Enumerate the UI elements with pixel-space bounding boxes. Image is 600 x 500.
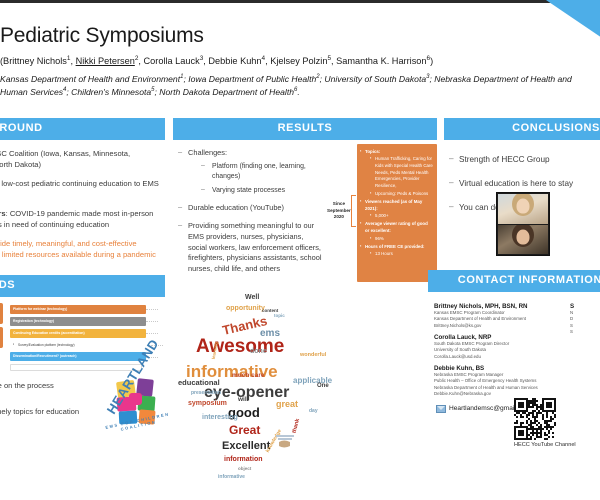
background-paragraph-3: Driving factors: COVID-19 pandemic made … (0, 208, 161, 230)
word-cloud-word: symposium (188, 400, 227, 407)
qr-block: HECC YouTube Channel (514, 398, 576, 448)
section-header-contact: CONTACT INFORMATION (428, 270, 600, 292)
results-stats-box: Topics: Human Trafficking, Caring for Ki… (357, 144, 437, 282)
contact-name: Brittney Nichols, MPH, BSN, RN (434, 303, 564, 310)
word-cloud-word: topic (274, 313, 285, 318)
list-item: Viewers reached (as of May 2021): 5,000+ (360, 199, 433, 220)
section-header-background: BACKGROUND (0, 118, 165, 140)
list-item: 13 Hours (370, 251, 433, 258)
list-item: 5,000+ (370, 213, 433, 220)
childrens-minnesota-logo (275, 432, 297, 450)
word-cloud-word: object (238, 466, 251, 471)
contact-line: S (570, 329, 600, 335)
word-cloud-word: educational (178, 378, 220, 387)
stat-0-label: Topics: (365, 149, 380, 154)
flow-bar: Platform for webinar (technology) (10, 305, 146, 314)
section-background: BACKGROUND Group: HEMSC Coalition (Iowa,… (0, 118, 165, 268)
background-paragraph-1: Group: HEMSC Coalition (Iowa, Kansas, Mi… (0, 148, 161, 170)
section-header-methods: METHODS (0, 275, 165, 297)
list-item: Providing something meaningful to our EM… (177, 221, 323, 275)
stat-1-children: 5,000+ (370, 213, 433, 220)
section-results: RESULTS Challenges: Platform (finding on… (173, 118, 437, 282)
word-cloud-word: Well (245, 294, 259, 301)
contact-email[interactable]: Debbie.Kuhn@Nebraska.gov (434, 391, 564, 397)
background-text-2: Provide low-cost pediatric continuing ed… (0, 179, 159, 199)
author-list: (Brittney Nichols1, Nikki Petersen2, Cor… (0, 55, 600, 66)
word-cloud-word: will (238, 396, 248, 403)
word-cloud-word: Awesome (196, 336, 284, 358)
word-cloud-word: day (309, 408, 318, 414)
word-cloud-word: ems (260, 328, 280, 339)
results-body: Challenges: Platform (finding one, learn… (173, 140, 437, 282)
flow-bar: Continuing Education credits (accreditat… (10, 329, 146, 338)
list-item: Virtual education is here to stay (448, 178, 600, 190)
word-cloud-word: interesting (202, 414, 238, 421)
avatar (517, 199, 530, 214)
since-note: Since September 2020 (327, 201, 351, 220)
background-paragraph-2: Goal: Provide low-cost pediatric continu… (0, 178, 161, 200)
list-item: Human Trafficking, Caring for Kids with … (370, 156, 433, 189)
list-item: Upcoming: Peds & Poisons (370, 191, 433, 198)
stat-0-children: Human Trafficking, Caring for Kids with … (370, 156, 433, 197)
word-cloud-word: opportunity (226, 305, 265, 312)
results-list: Challenges: Platform (finding one, learn… (177, 148, 323, 275)
list-item: Challenges: Platform (finding one, learn… (177, 148, 323, 197)
background-body: Group: HEMSC Coalition (Iowa, Kansas, Mi… (0, 140, 165, 260)
brace-decoration (351, 195, 356, 227)
results-item-0-text: Challenges: (188, 148, 227, 157)
word-cloud-word: presentation (191, 390, 221, 396)
flow-bar: Registration (technology) (10, 317, 146, 326)
puzzle-icon (0, 303, 4, 349)
flow-bar: Survey/Evaluation platform (technology) (10, 341, 151, 350)
qr-code-icon[interactable] (514, 398, 556, 440)
stat-2-children: 96% (370, 236, 433, 243)
contact-name: S (570, 303, 600, 310)
section-header-results: RESULTS (173, 118, 437, 140)
zoom-participant-tile-2 (498, 225, 548, 255)
stat-3-label: Hours of FREE CE provided: (365, 244, 425, 249)
word-cloud-word: wonderful (300, 352, 326, 358)
qr-caption: HECC YouTube Channel (514, 442, 576, 448)
stats-list: Topics: Human Trafficking, Caring for Ki… (360, 149, 433, 258)
stat-1-label: Viewers reached (as of May 2021): (365, 199, 422, 211)
results-sublist-0: Platform (finding one, learning, changes… (200, 162, 323, 196)
page-title: Pediatric Symposiums (0, 24, 600, 48)
word-cloud-word: informative (218, 474, 245, 480)
affiliation-list: Kansas Department of Health and Environm… (0, 73, 600, 99)
list-item: 96% (370, 236, 433, 243)
word-cloud-word: Excellent (222, 440, 270, 452)
title-block: Pediatric Symposiums (Brittney Nichols1,… (0, 24, 600, 99)
background-text-3: : COVID-19 pandemic made most in-person … (0, 209, 153, 229)
list-item: Average viewer rating of good or excelle… (360, 221, 433, 242)
section-conclusions: CONCLUSIONS Strength of HECC Group Virtu… (444, 118, 600, 225)
word-cloud-word: much care (232, 372, 265, 379)
stat-3-children: 13 Hours (370, 251, 433, 258)
list-item: Durable education (YouTube) (177, 203, 323, 214)
contact-column-2: S N D S S (570, 298, 600, 398)
results-bullets: Challenges: Platform (finding one, learn… (173, 140, 327, 282)
word-cloud-word: Great (229, 423, 260, 437)
top-rule (0, 0, 600, 3)
word-cloud-word: information (224, 456, 263, 463)
word-cloud-word: done (250, 348, 267, 355)
list-item: Topics: Human Trafficking, Caring for Ki… (360, 149, 433, 198)
zoom-participant-tile-1 (498, 194, 548, 224)
section-header-conclusions: CONCLUSIONS (444, 118, 600, 140)
list-item: Strength of HECC Group (448, 154, 600, 166)
word-cloud: Awesomeinformativeeye-openerThanksgoodGr… (166, 278, 346, 464)
word-cloud-word: One (317, 383, 329, 389)
background-purpose: Purpose: Provide timely, meaningful, and… (0, 238, 161, 260)
list-item: Varying state processes (200, 186, 323, 196)
contact-column-1: Brittney Nichols, MPH, BSN, RN Kansas EM… (434, 298, 564, 398)
contact-name: Corolla Lauck, NRP (434, 334, 564, 341)
contact-name: Debbie Kuhn, BS (434, 365, 564, 372)
contact-body: Brittney Nichols, MPH, BSN, RN Kansas EM… (428, 292, 600, 398)
poster-canvas: Pediatric Symposiums (Brittney Nichols1,… (0, 0, 600, 500)
avatar (517, 229, 530, 244)
contact-email[interactable]: Brittney.Nichols@ks.gov (434, 323, 564, 329)
list-item: Platform (finding one, learning, changes… (200, 162, 323, 182)
stat-2-label: Average viewer rating of good or excelle… (365, 221, 428, 233)
section-contact: CONTACT INFORMATION Brittney Nichols, MP… (428, 270, 600, 413)
zoom-meeting-screenshot (496, 192, 550, 256)
background-text-1: HEMSC Coalition (Iowa, Kansas, Minnesota… (0, 149, 130, 169)
contact-email[interactable]: Corolla.Lauck@usd.edu (434, 354, 564, 360)
word-cloud-word: content (262, 308, 278, 313)
list-item: Hours of FREE CE provided: 13 Hours (360, 244, 433, 258)
mail-icon (436, 405, 446, 413)
word-cloud-word: great (276, 399, 298, 409)
